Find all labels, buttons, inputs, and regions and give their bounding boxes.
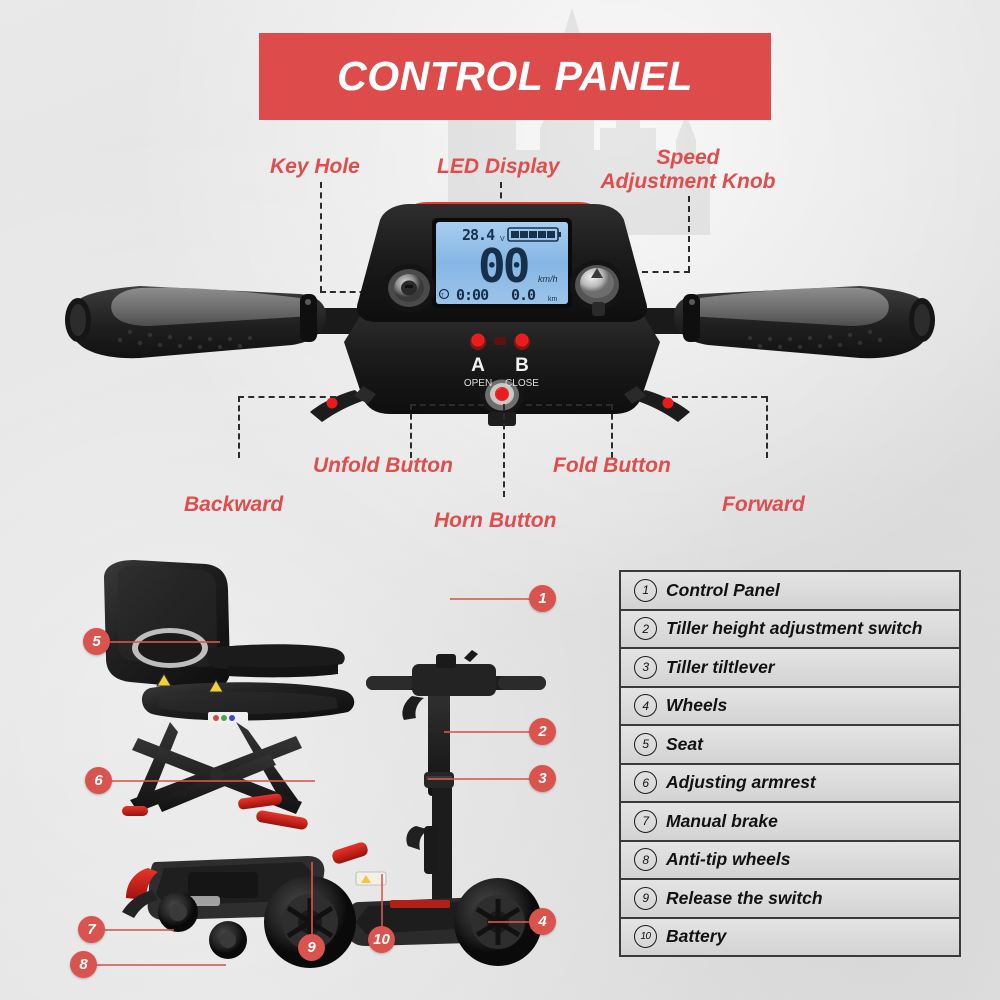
speed-knob-line-1: Speed xyxy=(656,146,719,169)
photo-badge-5[interactable]: 5 xyxy=(83,628,110,655)
callout-label-fold-button: Fold Button xyxy=(553,454,671,478)
svg-text:0:00: 0:00 xyxy=(456,286,489,304)
legend-label-9: Release the switch xyxy=(666,888,823,909)
legend-label-5: Seat xyxy=(666,734,703,755)
parts-legend-table: 1 Control Panel 2 Tiller height adjustme… xyxy=(619,570,961,957)
callout-label-key-hole: Key Hole xyxy=(270,155,360,179)
svg-text:00: 00 xyxy=(478,239,528,293)
lead-line-8 xyxy=(96,964,226,966)
legend-number-4: 4 xyxy=(634,694,657,717)
leader-forward-vertical xyxy=(766,396,768,458)
svg-text:OPEN: OPEN xyxy=(464,378,492,389)
legend-number-2: 2 xyxy=(634,617,657,640)
legend-label-2: Tiller height adjustment switch xyxy=(666,618,922,639)
legend-row-7[interactable]: 7 Manual brake xyxy=(621,803,959,842)
photo-badge-1[interactable]: 1 xyxy=(529,585,556,612)
legend-row-5[interactable]: 5 Seat xyxy=(621,726,959,765)
callout-label-unfold-button: Unfold Button xyxy=(313,454,453,478)
legend-number-6: 6 xyxy=(634,771,657,794)
leader-fold-horizontal xyxy=(526,404,612,406)
lead-line-1 xyxy=(450,598,530,600)
svg-text:km/h: km/h xyxy=(538,274,558,284)
leader-backward-vertical xyxy=(238,396,240,458)
photo-badge-4[interactable]: 4 xyxy=(529,908,556,935)
leader-fold-vertical xyxy=(611,404,613,458)
legend-label-8: Anti-tip wheels xyxy=(666,849,790,870)
svg-text:0.0: 0.0 xyxy=(511,286,536,304)
legend-number-1: 1 xyxy=(634,579,657,602)
legend-number-8: 8 xyxy=(634,848,657,871)
callout-label-forward: Forward xyxy=(722,493,805,517)
callout-label-led-display: LED Display xyxy=(437,155,560,179)
lead-line-7 xyxy=(104,929,174,931)
page-title: CONTROL PANEL xyxy=(337,53,693,100)
legend-number-7: 7 xyxy=(634,810,657,833)
legend-row-6[interactable]: 6 Adjusting armrest xyxy=(621,765,959,804)
folding-scooter-illustration xyxy=(60,550,600,980)
leader-unfold-vertical xyxy=(410,404,412,458)
handlebar-assembly-illustration: 28.4 V 00 km/h T 0:00 0.0 km xyxy=(0,190,1000,450)
lead-line-9 xyxy=(311,862,313,938)
photo-badge-2[interactable]: 2 xyxy=(529,718,556,745)
legend-number-3: 3 xyxy=(634,656,657,679)
legend-row-10[interactable]: 10 Battery xyxy=(621,919,959,958)
leader-forward-horizontal xyxy=(672,396,767,398)
svg-text:B: B xyxy=(515,355,529,376)
photo-badge-3[interactable]: 3 xyxy=(529,765,556,792)
legend-label-4: Wheels xyxy=(666,695,727,716)
lead-line-2 xyxy=(444,731,530,733)
legend-row-9[interactable]: 9 Release the switch xyxy=(621,880,959,919)
legend-row-4[interactable]: 4 Wheels xyxy=(621,688,959,727)
legend-row-2[interactable]: 2 Tiller height adjustment switch xyxy=(621,611,959,650)
lead-line-5 xyxy=(108,641,220,643)
svg-text:T: T xyxy=(441,293,444,299)
svg-text:A: A xyxy=(471,355,485,376)
legend-label-7: Manual brake xyxy=(666,811,778,832)
photo-badge-8[interactable]: 8 xyxy=(70,951,97,978)
anti-tip-wheel-small xyxy=(209,921,247,959)
legend-row-3[interactable]: 3 Tiller tiltlever xyxy=(621,649,959,688)
photo-badge-9[interactable]: 9 xyxy=(298,934,325,961)
legend-number-10: 10 xyxy=(634,925,657,948)
callout-label-speed-adjustment-knob: Speed Adjustment Knob xyxy=(588,146,788,193)
legend-number-9: 9 xyxy=(634,887,657,910)
lead-line-10 xyxy=(381,874,383,930)
callout-label-backward: Backward xyxy=(184,493,283,517)
legend-label-6: Adjusting armrest xyxy=(666,772,816,793)
callout-label-horn-button: Horn Button xyxy=(434,509,556,533)
legend-row-1[interactable]: 1 Control Panel xyxy=(621,572,959,611)
photo-badge-7[interactable]: 7 xyxy=(78,916,105,943)
svg-text:km: km xyxy=(548,296,558,303)
legend-label-3: Tiller tiltlever xyxy=(666,657,775,678)
anti-tip-wheel-rear xyxy=(158,892,198,932)
photo-badge-10[interactable]: 10 xyxy=(368,926,395,953)
legend-label-10: Battery xyxy=(666,926,726,947)
leader-unfold-horizontal xyxy=(410,404,484,406)
lead-line-6 xyxy=(110,780,315,782)
svg-text:CLOSE: CLOSE xyxy=(505,378,539,389)
header-banner: CONTROL PANEL xyxy=(259,33,771,120)
infographic-page: CONTROL PANEL Key Hole LED Display Speed… xyxy=(0,0,1000,1000)
photo-badge-6[interactable]: 6 xyxy=(85,767,112,794)
legend-row-8[interactable]: 8 Anti-tip wheels xyxy=(621,842,959,881)
leader-horn-vertical xyxy=(503,404,505,497)
leader-backward-horizontal xyxy=(238,396,336,398)
legend-number-5: 5 xyxy=(634,733,657,756)
lead-line-3 xyxy=(428,778,530,780)
legend-label-1: Control Panel xyxy=(666,580,780,601)
